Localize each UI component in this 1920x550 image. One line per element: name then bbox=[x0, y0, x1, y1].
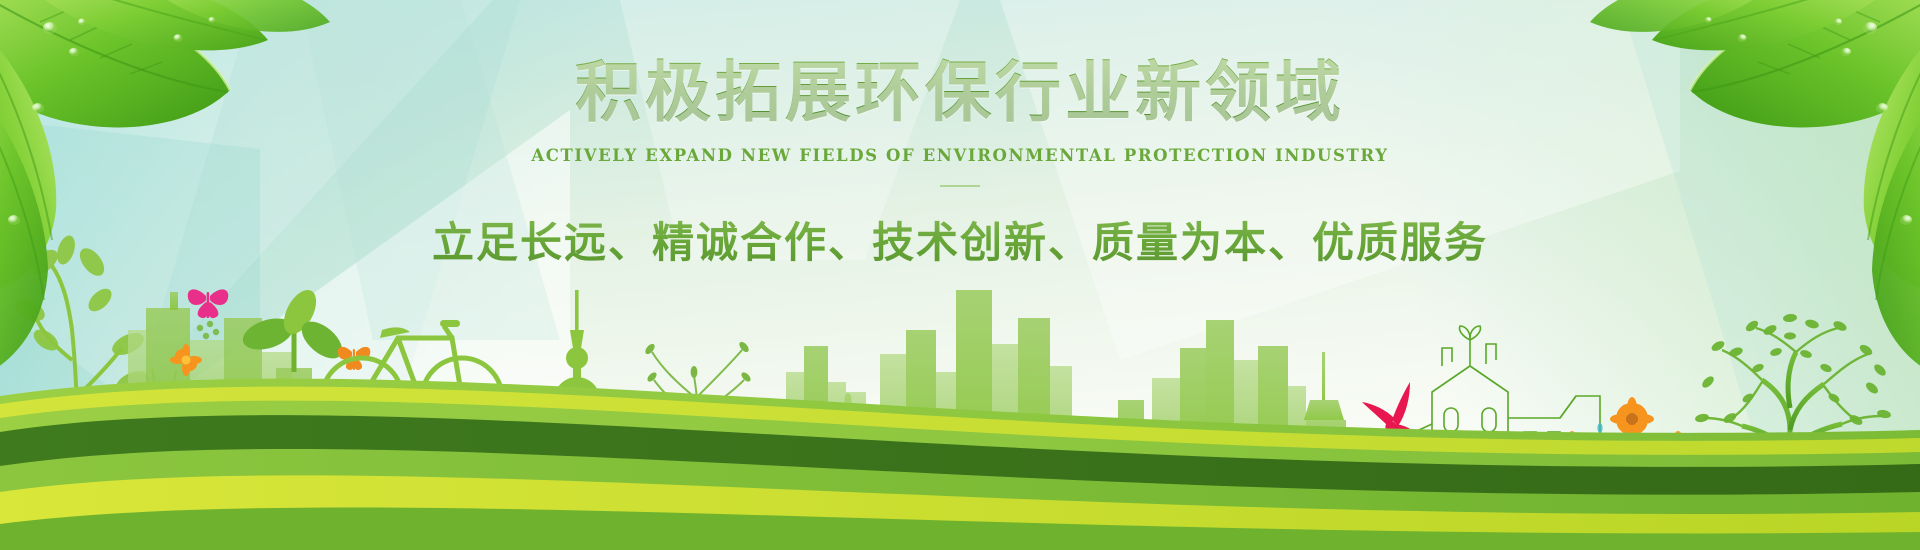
environmental-banner: 积极拓展环保行业新领域 ACTIVELY EXPAND NEW FIELDS O… bbox=[0, 0, 1920, 550]
leaf-cluster-icon bbox=[0, 0, 1920, 550]
